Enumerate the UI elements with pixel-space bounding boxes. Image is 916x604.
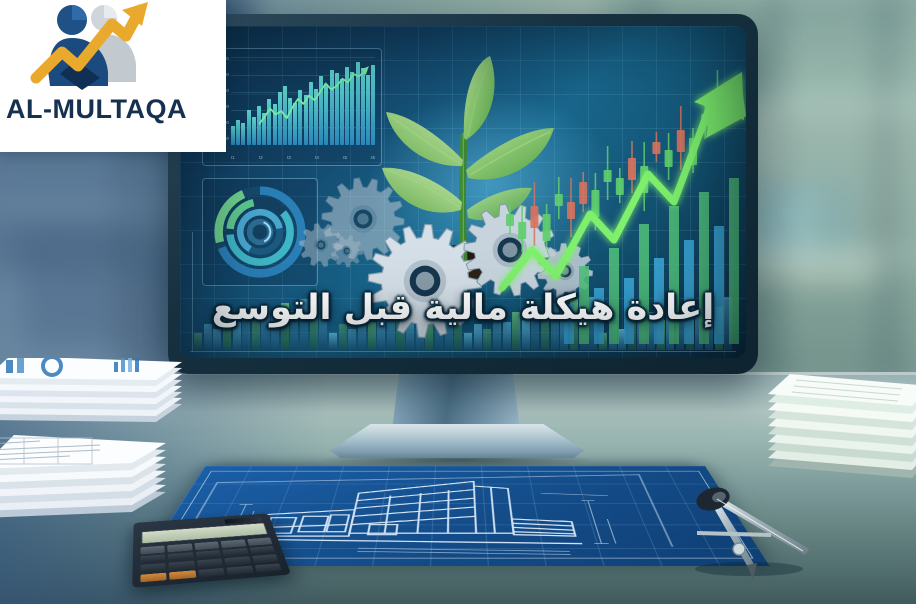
screen-vignette [180, 26, 746, 358]
monitor-bezel: 600500400300200100 t1t2t3t4t5t6 [168, 14, 758, 374]
document-stack-left-upper [0, 358, 182, 430]
monitor-stand-neck [392, 368, 520, 430]
logo-wordmark: AL-MULTAQA [0, 94, 199, 125]
two-people-growth-arrow-icon [30, 0, 160, 92]
window-mullion [770, 0, 780, 390]
background-furniture [20, 230, 130, 350]
document-stack-right [762, 362, 916, 482]
window-mullion [880, 0, 890, 390]
monitor-screen: 600500400300200100 t1t2t3t4t5t6 [180, 26, 746, 358]
desktop-monitor: 600500400300200100 t1t2t3t4t5t6 [168, 14, 758, 374]
drafting-compass [683, 477, 813, 592]
calculator-keypad[interactable] [140, 537, 281, 582]
monitor-stand-base [330, 424, 584, 458]
document-stack-left-lower [0, 432, 166, 524]
logo-badge: AL-MULTAQA [0, 0, 226, 152]
banner-image: 600500400300200100 t1t2t3t4t5t6 [0, 0, 916, 604]
